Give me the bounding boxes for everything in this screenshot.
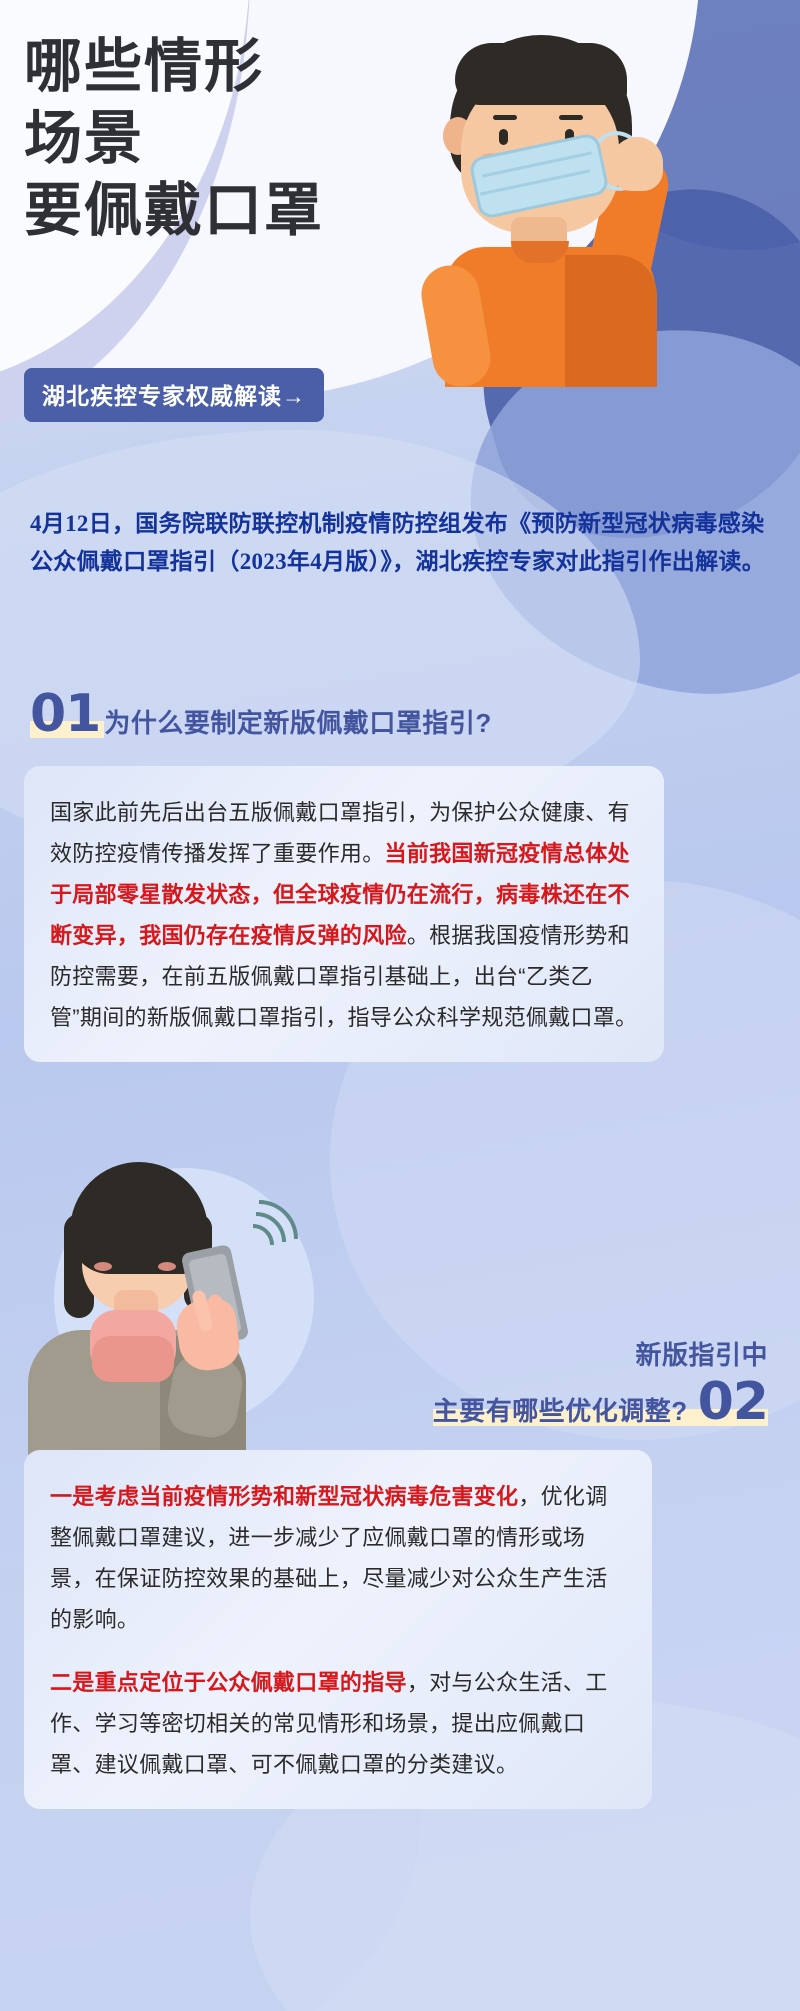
woman-eye-right [154, 1244, 162, 1257]
text-run-emphasis: 二是重点定位于公众佩戴口罩的指导 [50, 1670, 407, 1695]
section-02-question-line-2: 主要有哪些优化调整? [433, 1396, 688, 1426]
expert-interpretation-badge[interactable]: 湖北疾控专家权威解读→ [24, 368, 324, 422]
text-run-emphasis: 一是考虑当前疫情形势和新型冠状病毒危害变化 [50, 1484, 518, 1509]
page-title-line-2: 场景 [24, 102, 494, 174]
man-eyebrow-left [493, 115, 517, 120]
page-title-line-1: 哪些情形 [24, 30, 494, 102]
woman-blush-right [158, 1262, 176, 1271]
woman-blush-left [94, 1262, 112, 1271]
page-title: 哪些情形 场景 要佩戴口罩 [24, 30, 494, 246]
section-02-heading: 新版指引中 主要有哪些优化调整? 02 [433, 1335, 768, 1428]
section-02-card: 一是考虑当前疫情形势和新型冠状病毒危害变化，优化调整佩戴口罩建议，进一步减少了应… [24, 1450, 652, 1809]
section-02-number-wrap: 02 [688, 1376, 768, 1428]
section-01-question: 为什么要制定新版佩戴口罩指引? [104, 703, 491, 740]
woman-scarf-fold [92, 1336, 174, 1382]
section-02-number: 02 [698, 1372, 768, 1432]
hero-section: 哪些情形 场景 要佩戴口罩 湖北疾控专家权威解读→ [0, 0, 800, 470]
woman-with-phone-illustration [20, 1140, 350, 1470]
man-hand [611, 137, 663, 191]
section-01-number: 01 [30, 684, 100, 744]
section-02-paragraph-1: 一是考虑当前疫情形势和新型冠状病毒危害变化，优化调整佩戴口罩建议，进一步减少了应… [50, 1476, 626, 1640]
page-title-line-3: 要佩戴口罩 [24, 174, 494, 246]
man-eyebrow-right [559, 115, 583, 120]
section-01-number-wrap: 01 [30, 688, 104, 740]
section-02-text-wrap: 主要有哪些优化调整? [433, 1391, 688, 1428]
section-02-question-line-1: 新版指引中 [433, 1335, 768, 1372]
section-01-card: 国家此前先后出台五版佩戴口罩指引，为保护公众健康、有效防控疫情传播发挥了重要作用… [24, 766, 664, 1062]
section-01-paragraph-1: 国家此前先后出台五版佩戴口罩指引，为保护公众健康、有效防控疫情传播发挥了重要作用… [50, 792, 638, 1038]
woman-eye-left [106, 1244, 114, 1257]
infographic-page: 哪些情形 场景 要佩戴口罩 湖北疾控专家权威解读→ 4月12日，国务院联防联控机… [0, 0, 800, 2011]
section-02-paragraph-2: 二是重点定位于公众佩戴口罩的指导，对与公众生活、工作、学习等密切相关的常见情形和… [50, 1662, 626, 1785]
man-shirt-shade [565, 255, 657, 387]
section-01-heading: 01 为什么要制定新版佩戴口罩指引? [30, 688, 492, 740]
intro-paragraph: 4月12日，国务院联防联控机制疫情防控组发布《预防新型冠状病毒感染公众佩戴口罩指… [30, 505, 770, 581]
man-eye-left [499, 129, 508, 145]
